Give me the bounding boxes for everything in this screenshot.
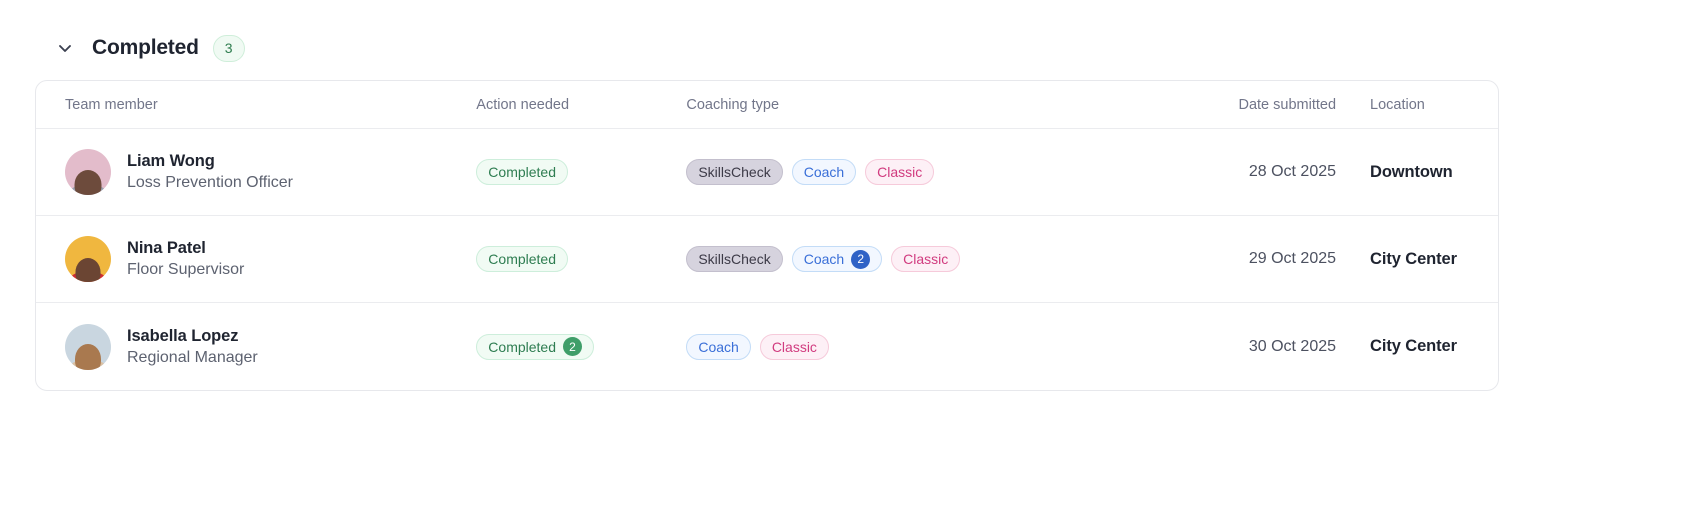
collapse-toggle-button[interactable] bbox=[52, 35, 78, 61]
cell-date-submitted: 30 Oct 2025 bbox=[1180, 338, 1336, 356]
column-header-date-submitted: Date submitted bbox=[1180, 97, 1336, 113]
coaching-type-chip[interactable]: SkillsCheck bbox=[686, 159, 782, 185]
coaching-type-chip-label: Coach bbox=[698, 339, 738, 355]
coaching-type-chip-label: SkillsCheck bbox=[698, 164, 770, 180]
table-row[interactable]: Nina PatelFloor SupervisorCompletedSkill… bbox=[36, 216, 1498, 303]
cell-action-needed: Completed bbox=[476, 159, 686, 185]
column-header-team-member: Team member bbox=[36, 97, 476, 113]
coaching-type-chip-label: SkillsCheck bbox=[698, 251, 770, 267]
coaching-type-chip-label: Coach bbox=[804, 251, 844, 267]
cell-location: City Center bbox=[1336, 337, 1498, 356]
cell-date-submitted: 28 Oct 2025 bbox=[1180, 163, 1336, 181]
column-header-action-needed: Action needed bbox=[476, 97, 686, 113]
cell-action-needed: Completed2 bbox=[476, 334, 686, 360]
cell-location: Downtown bbox=[1336, 163, 1498, 182]
table-body: Liam WongLoss Prevention OfficerComplete… bbox=[36, 129, 1498, 390]
date-submitted-text: 29 Oct 2025 bbox=[1249, 250, 1336, 267]
section-header: Completed 3 bbox=[52, 30, 245, 66]
page-title: Completed bbox=[92, 36, 199, 60]
cell-coaching-type: SkillsCheckCoach2Classic bbox=[686, 246, 1179, 272]
status-badge[interactable]: Completed2 bbox=[476, 334, 594, 360]
coaching-type-chip[interactable]: SkillsCheck bbox=[686, 246, 782, 272]
status-badge-label: Completed bbox=[488, 164, 556, 180]
location-text: City Center bbox=[1370, 337, 1457, 355]
chevron-down-icon bbox=[56, 39, 74, 57]
completed-table-card: Team member Action needed Coaching type … bbox=[35, 80, 1499, 391]
coaching-type-chip[interactable]: Classic bbox=[760, 334, 829, 360]
status-badge-label: Completed bbox=[488, 339, 556, 355]
cell-action-needed: Completed bbox=[476, 246, 686, 272]
avatar bbox=[65, 324, 111, 370]
column-header-coaching-type: Coaching type bbox=[686, 97, 1179, 113]
status-badge-count: 2 bbox=[563, 337, 582, 356]
table-header-row: Team member Action needed Coaching type … bbox=[36, 81, 1498, 129]
location-text: City Center bbox=[1370, 250, 1457, 268]
avatar bbox=[65, 149, 111, 195]
status-badge[interactable]: Completed bbox=[476, 159, 568, 185]
cell-team-member: Liam WongLoss Prevention Officer bbox=[36, 149, 476, 195]
coaching-type-chip-label: Coach bbox=[804, 164, 844, 180]
coaching-type-chip-label: Classic bbox=[903, 251, 948, 267]
member-role: Floor Supervisor bbox=[127, 261, 244, 279]
member-name: Liam Wong bbox=[127, 152, 293, 171]
cell-date-submitted: 29 Oct 2025 bbox=[1180, 250, 1336, 268]
cell-coaching-type: SkillsCheckCoachClassic bbox=[686, 159, 1179, 185]
coaching-type-chip[interactable]: Classic bbox=[865, 159, 934, 185]
coaching-type-chip[interactable]: Coach bbox=[686, 334, 750, 360]
date-submitted-text: 30 Oct 2025 bbox=[1249, 338, 1336, 355]
table-row[interactable]: Liam WongLoss Prevention OfficerComplete… bbox=[36, 129, 1498, 216]
status-badge[interactable]: Completed bbox=[476, 246, 568, 272]
coaching-type-chip[interactable]: Coach2 bbox=[792, 246, 882, 272]
coaching-type-chip[interactable]: Classic bbox=[891, 246, 960, 272]
member-name: Isabella Lopez bbox=[127, 327, 258, 346]
coaching-type-chip-label: Classic bbox=[877, 164, 922, 180]
cell-location: City Center bbox=[1336, 250, 1498, 269]
member-role: Loss Prevention Officer bbox=[127, 174, 293, 192]
column-header-location: Location bbox=[1336, 97, 1498, 113]
cell-team-member: Isabella LopezRegional Manager bbox=[36, 324, 476, 370]
date-submitted-text: 28 Oct 2025 bbox=[1249, 163, 1336, 180]
member-name: Nina Patel bbox=[127, 239, 244, 258]
table-row[interactable]: Isabella LopezRegional ManagerCompleted2… bbox=[36, 303, 1498, 390]
cell-team-member: Nina PatelFloor Supervisor bbox=[36, 236, 476, 282]
coaching-type-chip-count: 2 bbox=[851, 250, 870, 269]
section-count-badge: 3 bbox=[213, 35, 245, 62]
coaching-type-chip[interactable]: Coach bbox=[792, 159, 856, 185]
coaching-type-chip-label: Classic bbox=[772, 339, 817, 355]
member-role: Regional Manager bbox=[127, 349, 258, 367]
avatar bbox=[65, 236, 111, 282]
cell-coaching-type: CoachClassic bbox=[686, 334, 1179, 360]
status-badge-label: Completed bbox=[488, 251, 556, 267]
location-text: Downtown bbox=[1370, 163, 1453, 181]
